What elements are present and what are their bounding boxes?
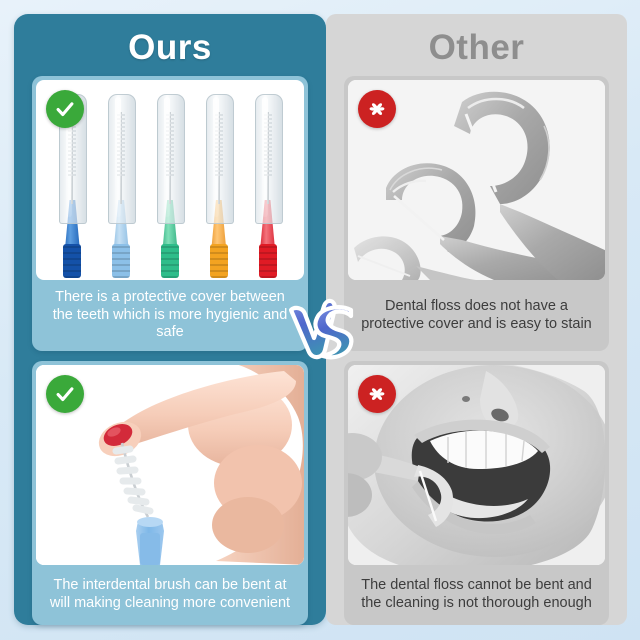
cap-sheen (115, 97, 121, 217)
other-caption-1: Dental floss does not have a protective … (344, 280, 609, 351)
other-caption-2: The dental floss cannot be bent and the … (344, 565, 609, 625)
cap-sheen (262, 97, 268, 217)
x-circle-icon (358, 375, 396, 413)
brush-cap (157, 94, 185, 224)
x-circle-icon (358, 90, 396, 128)
ours-card-brushes: There is a protective cover between the … (32, 76, 308, 351)
other-card-floss: Dental floss does not have a protective … (344, 76, 609, 351)
panel-other: Other (326, 14, 627, 625)
cap-sheen (164, 97, 170, 217)
vs-badge-icon (283, 296, 359, 370)
infographic-stage: Ours (0, 0, 640, 640)
brush-item (202, 94, 236, 276)
other-mouth-photo (348, 365, 605, 565)
brush-item (153, 94, 187, 276)
ours-bending-photo (36, 365, 304, 565)
other-floss-photo (348, 80, 605, 280)
brush-item (251, 94, 285, 276)
ours-caption-2: The interdental brush can be bent at wil… (32, 565, 308, 625)
brush-cap (255, 94, 283, 224)
panel-ours-title: Ours (14, 28, 326, 68)
brush-item (104, 94, 138, 276)
panel-ours: Ours (14, 14, 326, 625)
brush-grip (63, 244, 81, 278)
brush-grip (112, 244, 130, 278)
ours-caption-1: There is a protective cover between the … (32, 280, 308, 351)
brush-grip (259, 244, 277, 278)
ours-brushes-photo (36, 80, 304, 280)
ours-card-bending: The interdental brush can be bent at wil… (32, 361, 308, 625)
panel-other-title: Other (326, 28, 627, 68)
brush-cap (206, 94, 234, 224)
brush-grip (210, 244, 228, 278)
other-card-mouth: The dental floss cannot be bent and the … (344, 361, 609, 625)
check-circle-icon (46, 375, 84, 413)
check-circle-icon (46, 90, 84, 128)
brush-cap (108, 94, 136, 224)
cap-sheen (213, 97, 219, 217)
brush-grip (161, 244, 179, 278)
